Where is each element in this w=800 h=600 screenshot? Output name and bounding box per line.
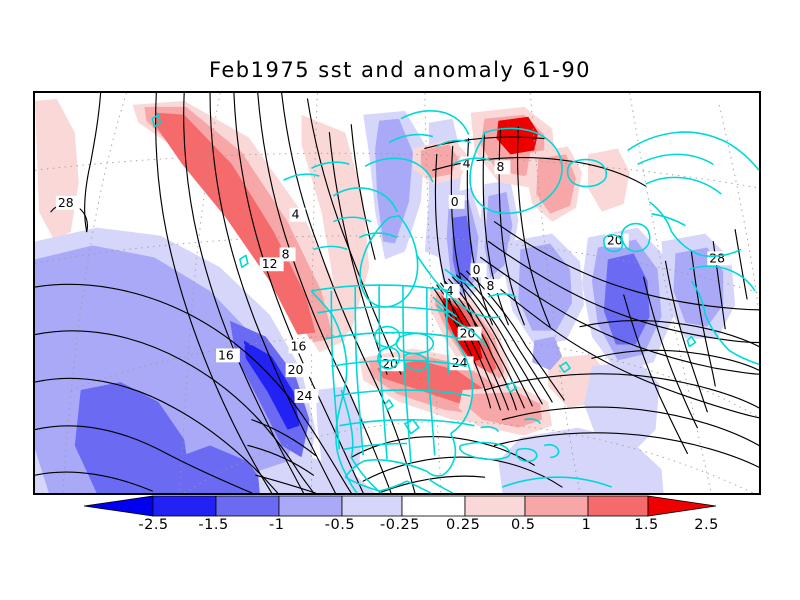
svg-text:8: 8 [487,278,495,293]
colorbar-band [216,496,279,516]
colorbar-tick: -1.5 [198,517,228,533]
svg-text:4: 4 [292,207,300,222]
svg-text:12: 12 [262,256,278,271]
svg-text:4: 4 [463,155,471,170]
anomaly-patch [588,148,630,211]
colorbar-band [279,496,342,516]
svg-text:16: 16 [218,347,234,362]
colorbar-band [153,496,216,516]
map-plot-area: 28 4 8 12 16 20 24 20 [33,91,761,495]
svg-text:0: 0 [473,262,481,277]
colorbar-tick: 1 [582,517,592,533]
colorbar-tick-labels: -2.5 -1.5 -1 -0.5 -0.25 0.25 0.5 1 1.5 2… [84,517,716,541]
colorbar-band [525,496,588,516]
colorbar-band [342,496,402,516]
svg-text:24: 24 [297,388,313,403]
colorbar-tick: -2.5 [138,517,168,533]
map-canvas: 28 4 8 12 16 20 24 20 [35,93,759,493]
colorbar-swatches [84,495,716,517]
colorbar-extend-max [648,496,716,516]
colorbar-tick: 1.5 [634,517,659,533]
colorbar-tick: -1 [269,517,284,533]
colorbar-tick: -0.25 [380,517,420,533]
figure-root: Feb1975 sst and anomaly 61-90 [0,0,800,600]
svg-text:20: 20 [288,362,304,377]
colorbar-band [402,496,465,516]
svg-text:28: 28 [58,195,74,210]
colorbar-tick: 0.25 [446,517,480,533]
anomaly-patch [35,99,79,242]
svg-text:8: 8 [496,159,504,174]
page-title: Feb1975 sst and anomaly 61-90 [0,58,800,82]
colorbar-extend-min [84,496,153,516]
colorbar-tick: 0.5 [511,517,536,533]
svg-text:28: 28 [709,250,725,265]
svg-text:16: 16 [291,338,307,353]
colorbar-band [588,496,648,516]
colorbar-band [465,496,525,516]
colorbar-tick: 2.5 [694,517,719,533]
colorbar: -2.5 -1.5 -1 -0.5 -0.25 0.25 0.5 1 1.5 2… [84,495,716,541]
colorbar-tick: -0.5 [325,517,355,533]
svg-text:0: 0 [451,194,459,209]
